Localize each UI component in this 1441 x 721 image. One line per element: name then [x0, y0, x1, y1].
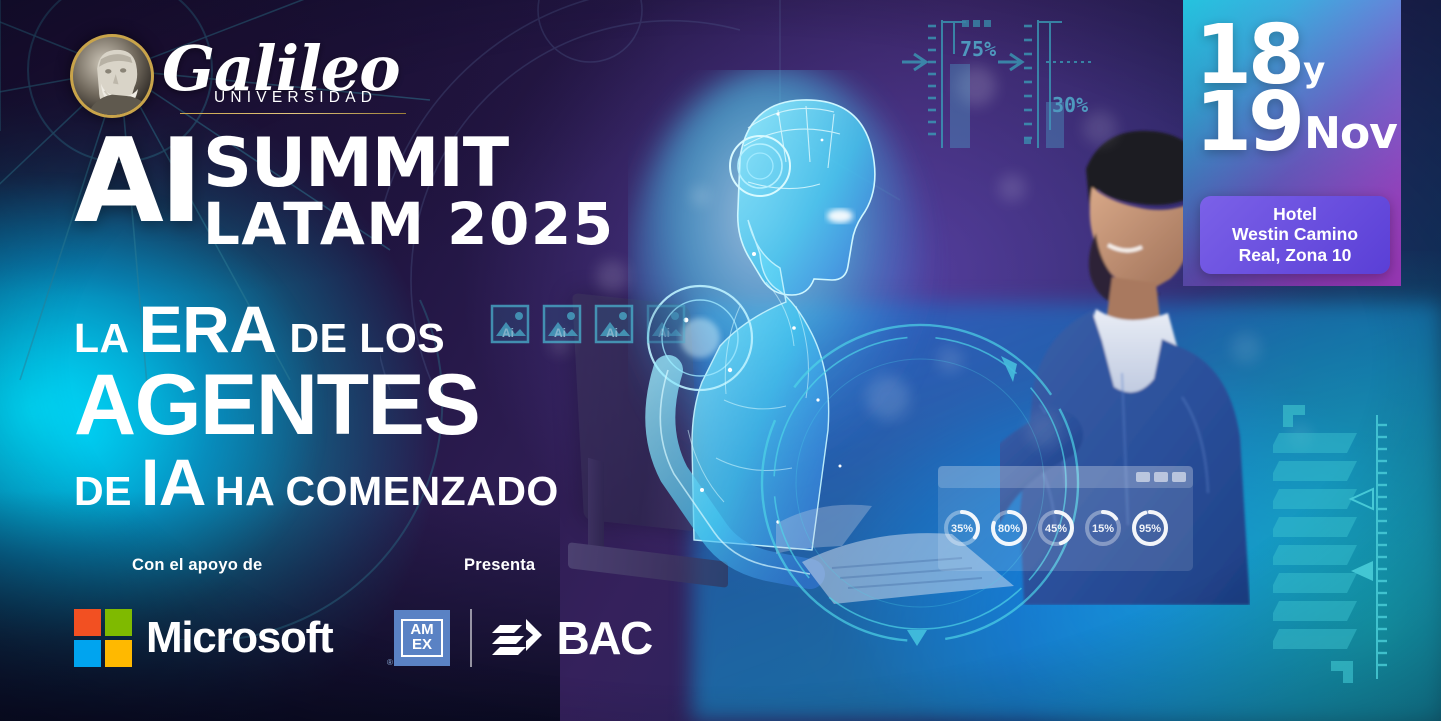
- sponsor-group-presents: Presenta AM EX ®: [394, 556, 652, 667]
- amex-registered-mark: ®: [387, 658, 393, 667]
- amex-wordmark: AM EX: [401, 619, 443, 657]
- hud-gauge-2-value: 30%: [1052, 93, 1088, 117]
- sponsor-presents-label: Presenta: [464, 556, 652, 575]
- hud-donut-label: 45%: [1045, 523, 1067, 535]
- hud-donut-label: 35%: [951, 523, 973, 535]
- venue-line-1: Hotel: [1206, 204, 1384, 224]
- hud-right-edge-decoration: [1273, 399, 1413, 699]
- banner-stage: 75% 30% 35%80%45%15%95%: [0, 0, 1441, 721]
- sponsor-divider: [470, 609, 472, 667]
- tagline-la: LA: [74, 318, 130, 359]
- tagline-de: DE: [74, 471, 132, 512]
- hud-donut-label: 80%: [998, 523, 1020, 535]
- sponsor-support-label: Con el apoyo de: [132, 556, 394, 575]
- hud-gauge-1-value: 75%: [960, 37, 996, 61]
- hud-metrics-panel: 35%80%45%15%95%: [938, 466, 1193, 571]
- ms-square-yellow: [105, 640, 132, 667]
- ms-square-red: [74, 609, 101, 636]
- ai-image-icon: Ai: [596, 306, 632, 342]
- date-conjunction: y: [1303, 57, 1325, 85]
- ms-square-blue: [74, 640, 101, 667]
- venue-line-2: Westin Camino: [1206, 224, 1384, 244]
- galileo-university-logo[interactable]: Galileo UNIVERSIDAD: [70, 34, 400, 118]
- microsoft-wordmark: Microsoft: [146, 616, 332, 660]
- ai-icon-label: Ai: [658, 326, 670, 340]
- logo-gold-rule: [180, 113, 406, 114]
- hud-vertical-gauges: 75% 30%: [900, 4, 1130, 154]
- hud-donut-label: 15%: [1092, 523, 1114, 535]
- event-date-panel: 18 y 19 Nov Hotel Westin Camino Real, Zo…: [1183, 0, 1401, 286]
- tagline-ia: IA: [141, 449, 206, 515]
- bac-wordmark: BAC: [557, 615, 652, 661]
- title-latam: LATAM 2025: [203, 198, 615, 251]
- bac-arrow-mark-icon: [492, 615, 546, 661]
- amex-logo[interactable]: AM EX ®: [394, 610, 450, 666]
- sponsor-group-support: Con el apoyo de Microsoft: [74, 556, 394, 667]
- title-summit: SUMMIT: [203, 136, 615, 192]
- venue-line-3: Real, Zona 10: [1206, 245, 1384, 265]
- ms-square-green: [105, 609, 132, 636]
- tagline-agentes: AGENTES: [74, 364, 479, 447]
- event-title-block: AI SUMMIT LATAM 2025: [74, 132, 615, 251]
- event-tagline-block: LA ERA DE LOS AGENTES DE IA HA COMENZADO: [74, 296, 559, 515]
- microsoft-logo[interactable]: Microsoft: [74, 609, 394, 667]
- tagline-era: ERA: [139, 296, 277, 362]
- tagline-comenzado: HA COMENZADO: [215, 471, 559, 512]
- ai-icon-label: Ai: [606, 326, 618, 340]
- galileo-bust-medallion-icon: [70, 34, 154, 118]
- date-month: Nov: [1304, 116, 1397, 152]
- date-day-2: 19: [1195, 89, 1301, 156]
- event-date-numbers: 18 y 19 Nov: [1195, 22, 1391, 156]
- tagline-de-los: DE LOS: [290, 318, 446, 359]
- bac-logo[interactable]: BAC: [492, 615, 652, 661]
- logo-subtitle-text: UNIVERSIDAD: [214, 89, 400, 107]
- ai-image-icon: Ai: [648, 306, 684, 342]
- amex-line-2: EX: [403, 638, 441, 652]
- microsoft-squares-icon: [74, 609, 132, 667]
- hud-donut-label: 95%: [1139, 523, 1161, 535]
- venue-badge: Hotel Westin Camino Real, Zona 10: [1200, 196, 1390, 274]
- title-ai: AI: [74, 132, 199, 232]
- sponsors-row: Con el apoyo de Microsoft Presenta AM EX…: [74, 556, 652, 667]
